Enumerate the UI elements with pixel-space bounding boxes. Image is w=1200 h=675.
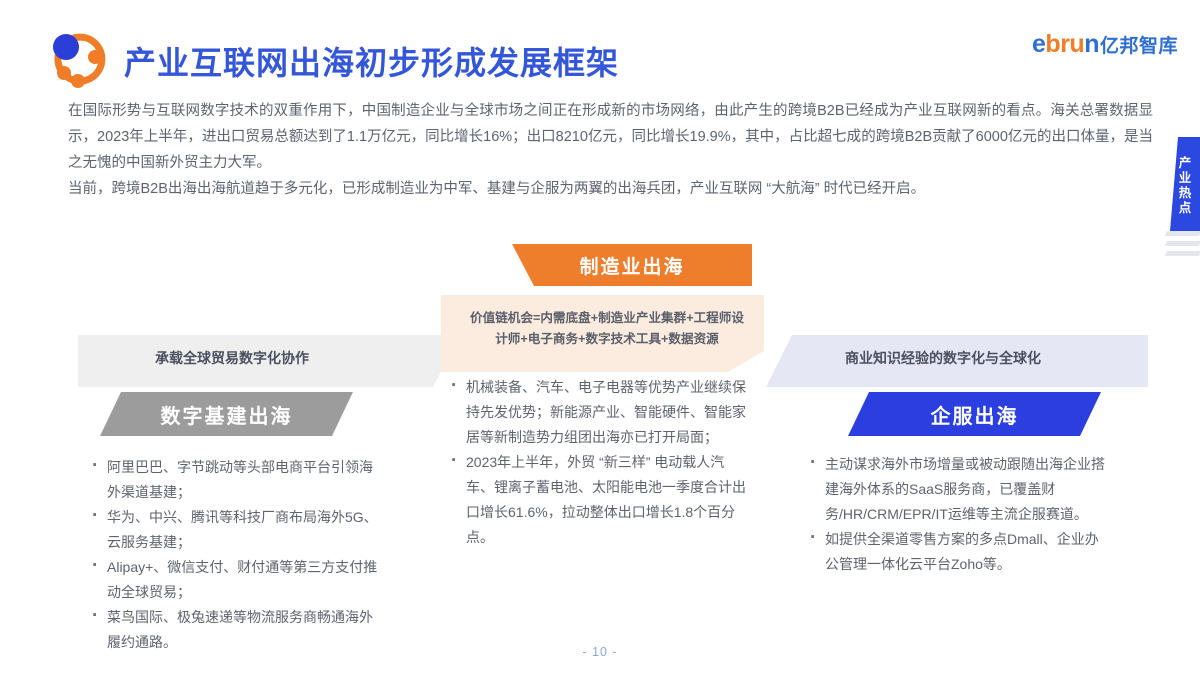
list-item: 机械装备、汽车、电子电器等优势产业继续保持先发优势；新能源产业、智能硬件、智能家…	[447, 375, 747, 450]
banner-enterprise-service-label: 企服出海	[931, 400, 1019, 429]
list-item: 如提供全渠道零售方案的多点Dmall、企业办公管理一体化云平台Zoho等。	[806, 527, 1106, 577]
center-column-bullets: 机械装备、汽车、电子电器等优势产业继续保持先发优势；新能源产业、智能硬件、智能家…	[447, 375, 747, 550]
right-column-bullets: 主动谋求海外市场增量或被动跟随出海企业搭建海外体系的SaaS服务商，已覆盖财务/…	[806, 452, 1106, 577]
intro-paragraphs: 在国际形势与互联网数字技术的双重作用下，中国制造企业与全球市场之间正在形成新的市…	[68, 98, 1153, 202]
brand-logo-n: n	[1084, 30, 1099, 59]
brand-logo: e bru n 亿邦智库	[1032, 30, 1178, 56]
page-number: - 10 -	[0, 645, 1200, 659]
intro-paragraph-1: 在国际形势与互联网数字技术的双重作用下，中国制造企业与全球市场之间正在形成新的市…	[68, 98, 1153, 176]
list-item: Alipay+、微信支付、财付通等第三方支付推动全球贸易；	[88, 555, 378, 605]
intro-paragraph-2: 当前，跨境B2B出海出海航道趋于多元化，已形成制造业为中军、基建与企服为两翼的出…	[68, 176, 1153, 202]
brand-logo-bru: bru	[1045, 30, 1084, 59]
brand-logo-cn: 亿邦智库	[1100, 31, 1178, 58]
list-item: 华为、中兴、腾讯等科技厂商布局海外5G、云服务基建；	[88, 505, 378, 555]
side-tab-industry-hotspot[interactable]: 产 业 热 点	[1170, 137, 1200, 231]
list-item: 主动谋求海外市场增量或被动跟随出海企业搭建海外体系的SaaS服务商，已覆盖财务/…	[806, 452, 1106, 527]
left-column-caption: 承载全球贸易数字化协作	[155, 348, 309, 368]
right-column-caption: 商业知识经验的数字化与全球化	[845, 348, 1041, 368]
side-decorative-stripes	[1166, 231, 1200, 275]
brand-logo-e: e	[1032, 30, 1045, 59]
slide-canvas: 产业互联网出海初步形成发展框架 e bru n 亿邦智库 在国际形势与互联网数字…	[0, 0, 1200, 675]
page-title: 产业互联网出海初步形成发展框架	[124, 38, 619, 84]
side-tab-char-3: 热	[1179, 186, 1192, 200]
banner-enterprise-service[interactable]: 企服出海	[848, 392, 1101, 436]
side-tab-char-4: 点	[1179, 201, 1192, 215]
banner-digital-infrastructure-label: 数字基建出海	[161, 400, 293, 429]
banner-manufacturing-label: 制造业出海	[579, 252, 684, 279]
side-tab-char-2: 业	[1179, 171, 1192, 185]
network-nodes-icon	[47, 29, 109, 89]
value-chain-formula: 价值链机会=内需底盘+制造业产业集群+工程师设计师+电子商务+数字技术工具+数据…	[464, 308, 750, 350]
side-tab-char-1: 产	[1179, 156, 1192, 170]
banner-digital-infrastructure[interactable]: 数字基建出海	[100, 392, 353, 436]
banner-manufacturing[interactable]: 制造业出海	[512, 244, 752, 286]
left-column-bullets: 阿里巴巴、字节跳动等头部电商平台引领海外渠道基建； 华为、中兴、腾讯等科技厂商布…	[88, 455, 378, 655]
list-item: 阿里巴巴、字节跳动等头部电商平台引领海外渠道基建；	[88, 455, 378, 505]
list-item: 2023年上半年，外贸 “新三样” 电动载人汽车、锂离子蓄电池、太阳能电池一季度…	[447, 450, 747, 550]
